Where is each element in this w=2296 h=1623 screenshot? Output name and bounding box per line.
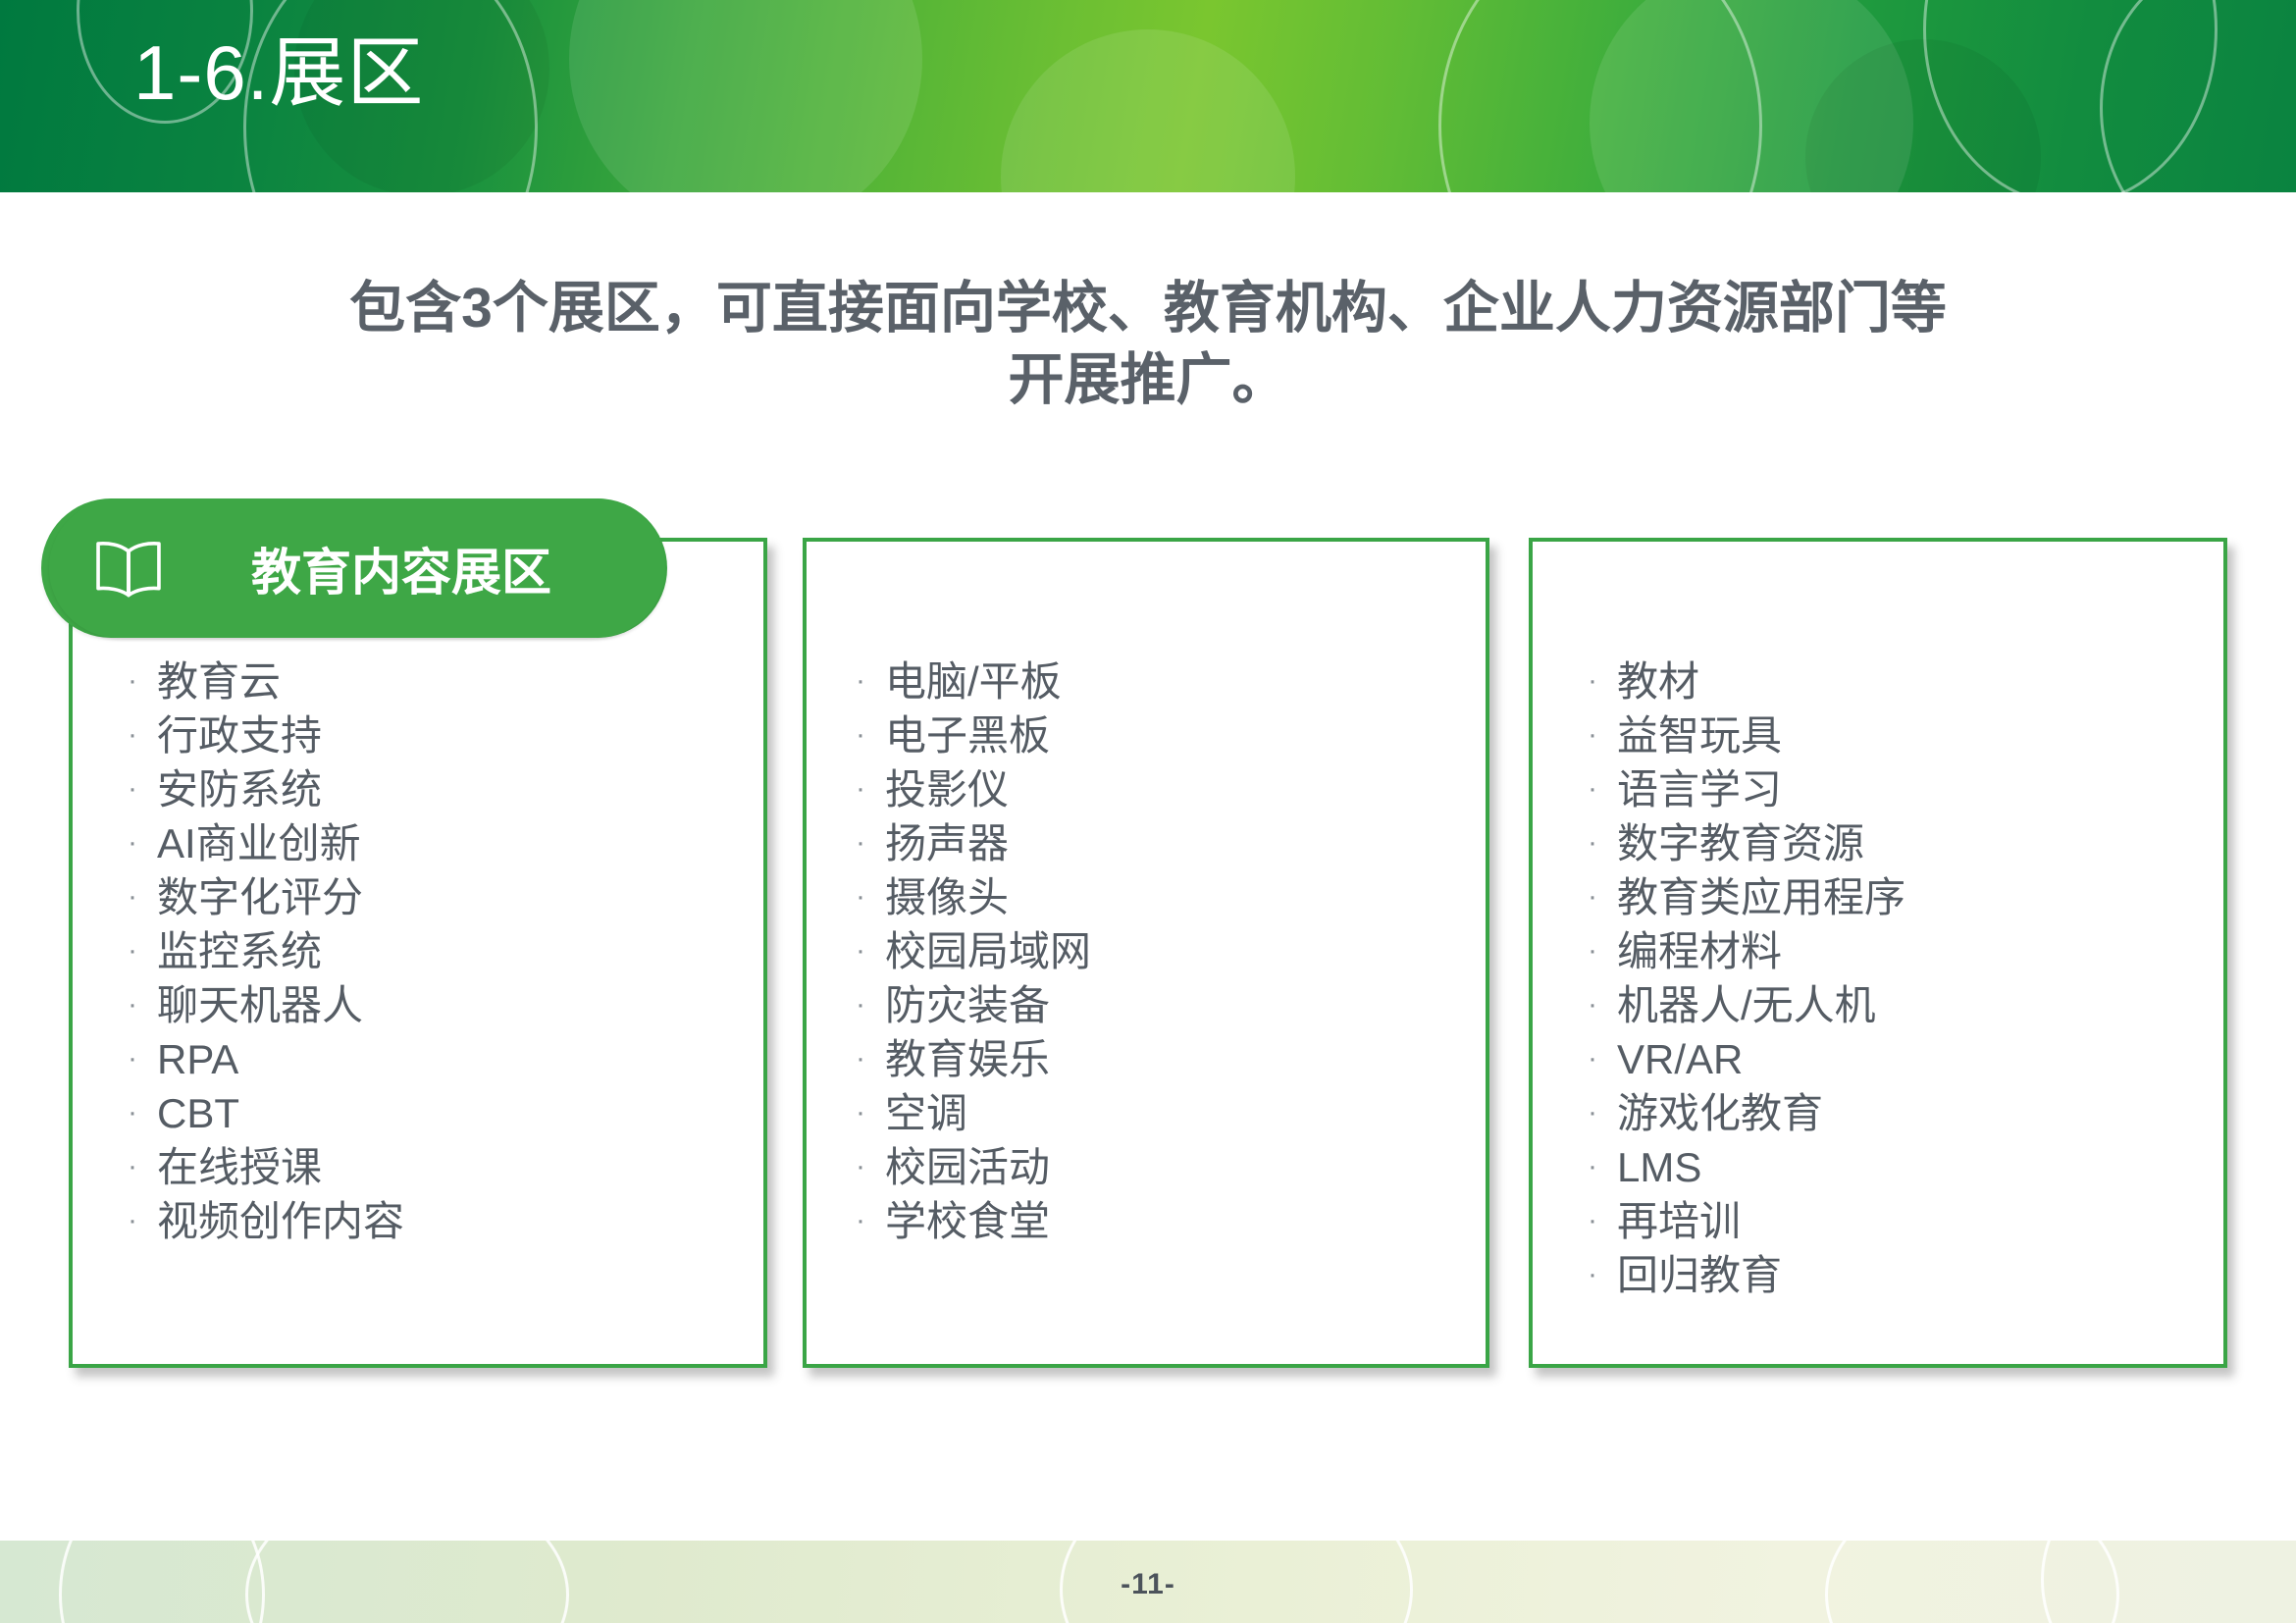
list-item-label: 在线授课 (157, 1147, 322, 1188)
bullet-icon: · (1588, 719, 1617, 751)
slide-subtitle: 包含3个展区，可直接面向学校、教育机构、企业人力资源部门等 开展推广。 (216, 273, 2080, 416)
list-item: ·监控系统 (128, 931, 763, 972)
bullet-icon: · (1588, 773, 1617, 805)
list-item: ·数字化评分 (128, 877, 763, 918)
list-item: ·在线授课 (128, 1147, 763, 1188)
list-item: ·校园局域网 (856, 931, 1486, 972)
list-item-label: 游戏化教育 (1617, 1093, 1823, 1134)
bullet-icon: · (128, 1097, 157, 1128)
list-item-label: 教育类应用程序 (1617, 877, 1905, 918)
list-item: ·教育云 (128, 661, 763, 703)
list-item: ·教育娱乐 (856, 1039, 1486, 1080)
bullet-icon: · (1588, 989, 1617, 1021)
bullet-icon: · (856, 1043, 885, 1074)
zone-card-learning-environment-list: ·电脑/平板 ·电子黑板 ·投影仪 ·扬声器 ·摄像头 ·校园局域网 ·防灾装备… (807, 661, 1486, 1255)
subtitle-line-1: 包含3个展区，可直接面向学校、教育机构、企业人力资源部门等 (216, 273, 2080, 344)
list-item-label: 安防系统 (157, 769, 322, 811)
bullet-icon: · (128, 827, 157, 859)
zone-card-learning-environment: ·电脑/平板 ·电子黑板 ·投影仪 ·扬声器 ·摄像头 ·校园局域网 ·防灾装备… (803, 538, 1489, 1368)
page-title: 1-6.展区 (133, 26, 424, 122)
list-item-label: 摄像头 (885, 877, 1009, 918)
list-item: ·VR/AR (1588, 1039, 2223, 1080)
bullet-icon: · (128, 1151, 157, 1182)
page-number: -11- (1121, 1568, 1175, 1601)
list-item: ·AI商业创新 (128, 823, 763, 864)
list-item: ·教育类应用程序 (1588, 877, 2223, 918)
list-item: ·摄像头 (856, 877, 1486, 918)
list-item: ·CBT (128, 1093, 763, 1134)
list-item-label: 校园活动 (885, 1147, 1050, 1188)
list-item: ·学校食堂 (856, 1201, 1486, 1242)
zone-card-education-content-header: 教育内容展区 (49, 498, 665, 638)
list-item: ·电脑/平板 (856, 661, 1486, 703)
bullet-icon: · (856, 665, 885, 697)
header-decoration-blob-1 (569, 0, 922, 192)
list-item: ·RPA (128, 1039, 763, 1080)
list-item: ·机器人/无人机 (1588, 985, 2223, 1026)
list-item: ·编程材料 (1588, 931, 2223, 972)
list-item-label: LMS (1617, 1147, 1701, 1188)
bullet-icon: · (128, 935, 157, 967)
bullet-icon: · (1588, 1259, 1617, 1290)
list-item-label: 数字化评分 (157, 877, 363, 918)
list-item-label: 机器人/无人机 (1617, 985, 1876, 1026)
zone-card-education-content-list: ·教材 ·益智玩具 ·语言学习 ·数字教育资源 ·教育类应用程序 ·编程材料 ·… (1533, 661, 2223, 1309)
list-item: ·安防系统 (128, 769, 763, 811)
bullet-icon: · (856, 827, 885, 859)
list-item: ·行政支持 (128, 715, 763, 757)
bullet-icon: · (856, 881, 885, 913)
bullet-icon: · (128, 719, 157, 751)
list-item-label: 教材 (1617, 661, 1699, 703)
zone-card-operations-list: ·教育云 ·行政支持 ·安防系统 ·AI商业创新 ·数字化评分 ·监控系统 ·聊… (73, 661, 763, 1255)
list-item: ·扬声器 (856, 823, 1486, 864)
bullet-icon: · (1588, 1205, 1617, 1236)
list-item-label: 再培训 (1617, 1201, 1741, 1242)
zone-card-education-content: ·教材 ·益智玩具 ·语言学习 ·数字教育资源 ·教育类应用程序 ·编程材料 ·… (1529, 538, 2227, 1368)
list-item: ·回归教育 (1588, 1255, 2223, 1296)
list-item: ·数字教育资源 (1588, 823, 2223, 864)
bullet-icon: · (856, 935, 885, 967)
bullet-icon: · (128, 773, 157, 805)
bullet-icon: · (128, 665, 157, 697)
list-item: ·投影仪 (856, 769, 1486, 811)
bullet-icon: · (1588, 665, 1617, 697)
bullet-icon: · (128, 881, 157, 913)
list-item-label: 校园局域网 (885, 931, 1091, 972)
list-item-label: 监控系统 (157, 931, 322, 972)
bullet-icon: · (1588, 827, 1617, 859)
list-item-label: 回归教育 (1617, 1255, 1782, 1296)
zone-card-operations: ·教育云 ·行政支持 ·安防系统 ·AI商业创新 ·数字化评分 ·监控系统 ·聊… (69, 538, 767, 1368)
bullet-icon: · (1588, 935, 1617, 967)
list-item: ·语言学习 (1588, 769, 2223, 811)
list-item-label: 编程材料 (1617, 931, 1782, 972)
bullet-icon: · (1588, 1043, 1617, 1074)
list-item: ·LMS (1588, 1147, 2223, 1188)
open-book-icon (82, 522, 175, 614)
list-item-label: 益智玩具 (1617, 715, 1782, 757)
bullet-icon: · (856, 1097, 885, 1128)
list-item-label: 语言学习 (1617, 769, 1782, 811)
list-item-label: AI商业创新 (157, 823, 361, 864)
list-item: ·防灾装备 (856, 985, 1486, 1026)
list-item: ·教材 (1588, 661, 2223, 703)
bullet-icon: · (856, 773, 885, 805)
footer-decoration-arc-2 (245, 1541, 569, 1623)
list-item-label: CBT (157, 1093, 239, 1134)
list-item-label: 行政支持 (157, 715, 322, 757)
list-item: ·再培训 (1588, 1201, 2223, 1242)
bullet-icon: · (856, 719, 885, 751)
list-item-label: 教育云 (157, 661, 281, 703)
header-decoration-ring-3 (1438, 0, 1762, 192)
list-item-label: 投影仪 (885, 769, 1009, 811)
header-decoration-ring-5 (2100, 0, 2296, 192)
zone-cards-container: ·教育云 ·行政支持 ·安防系统 ·AI商业创新 ·数字化评分 ·监控系统 ·聊… (0, 538, 2296, 1372)
list-item: ·益智玩具 (1588, 715, 2223, 757)
bullet-icon: · (1588, 1097, 1617, 1128)
list-item: ·聊天机器人 (128, 985, 763, 1026)
slide-footer-band: -11- (0, 1541, 2296, 1623)
list-item-label: 电子黑板 (885, 715, 1050, 757)
slide-header-band: 1-6.展区 (0, 0, 2296, 192)
list-item: ·电子黑板 (856, 715, 1486, 757)
header-decoration-blob-2 (1001, 29, 1295, 192)
list-item-label: 视频创作内容 (157, 1201, 404, 1242)
list-item-label: 学校食堂 (885, 1201, 1050, 1242)
bullet-icon: · (856, 1151, 885, 1182)
list-item-label: 防灾装备 (885, 985, 1050, 1026)
list-item: ·游戏化教育 (1588, 1093, 2223, 1134)
list-item-label: VR/AR (1617, 1039, 1743, 1080)
list-item-label: 空调 (885, 1093, 967, 1134)
bullet-icon: · (1588, 1151, 1617, 1182)
footer-decoration-arc-5 (2041, 1541, 2296, 1623)
list-item: ·空调 (856, 1093, 1486, 1134)
footer-decoration-arc-3 (1060, 1541, 1413, 1623)
list-item-label: 聊天机器人 (157, 985, 363, 1026)
list-item: ·视频创作内容 (128, 1201, 763, 1242)
list-item-label: 电脑/平板 (885, 661, 1062, 703)
footer-decoration-arc-1 (59, 1541, 265, 1623)
list-item-label: RPA (157, 1039, 238, 1080)
bullet-icon: · (1588, 881, 1617, 913)
zone-card-education-content-title: 教育内容展区 (188, 532, 632, 604)
bullet-icon: · (128, 1043, 157, 1074)
subtitle-line-2: 开展推广。 (216, 344, 2080, 416)
list-item-label: 扬声器 (885, 823, 1009, 864)
list-item-label: 教育娱乐 (885, 1039, 1050, 1080)
bullet-icon: · (128, 1205, 157, 1236)
list-item: ·校园活动 (856, 1147, 1486, 1188)
bullet-icon: · (856, 989, 885, 1021)
list-item-label: 数字教育资源 (1617, 823, 1864, 864)
bullet-icon: · (128, 989, 157, 1021)
bullet-icon: · (856, 1205, 885, 1236)
